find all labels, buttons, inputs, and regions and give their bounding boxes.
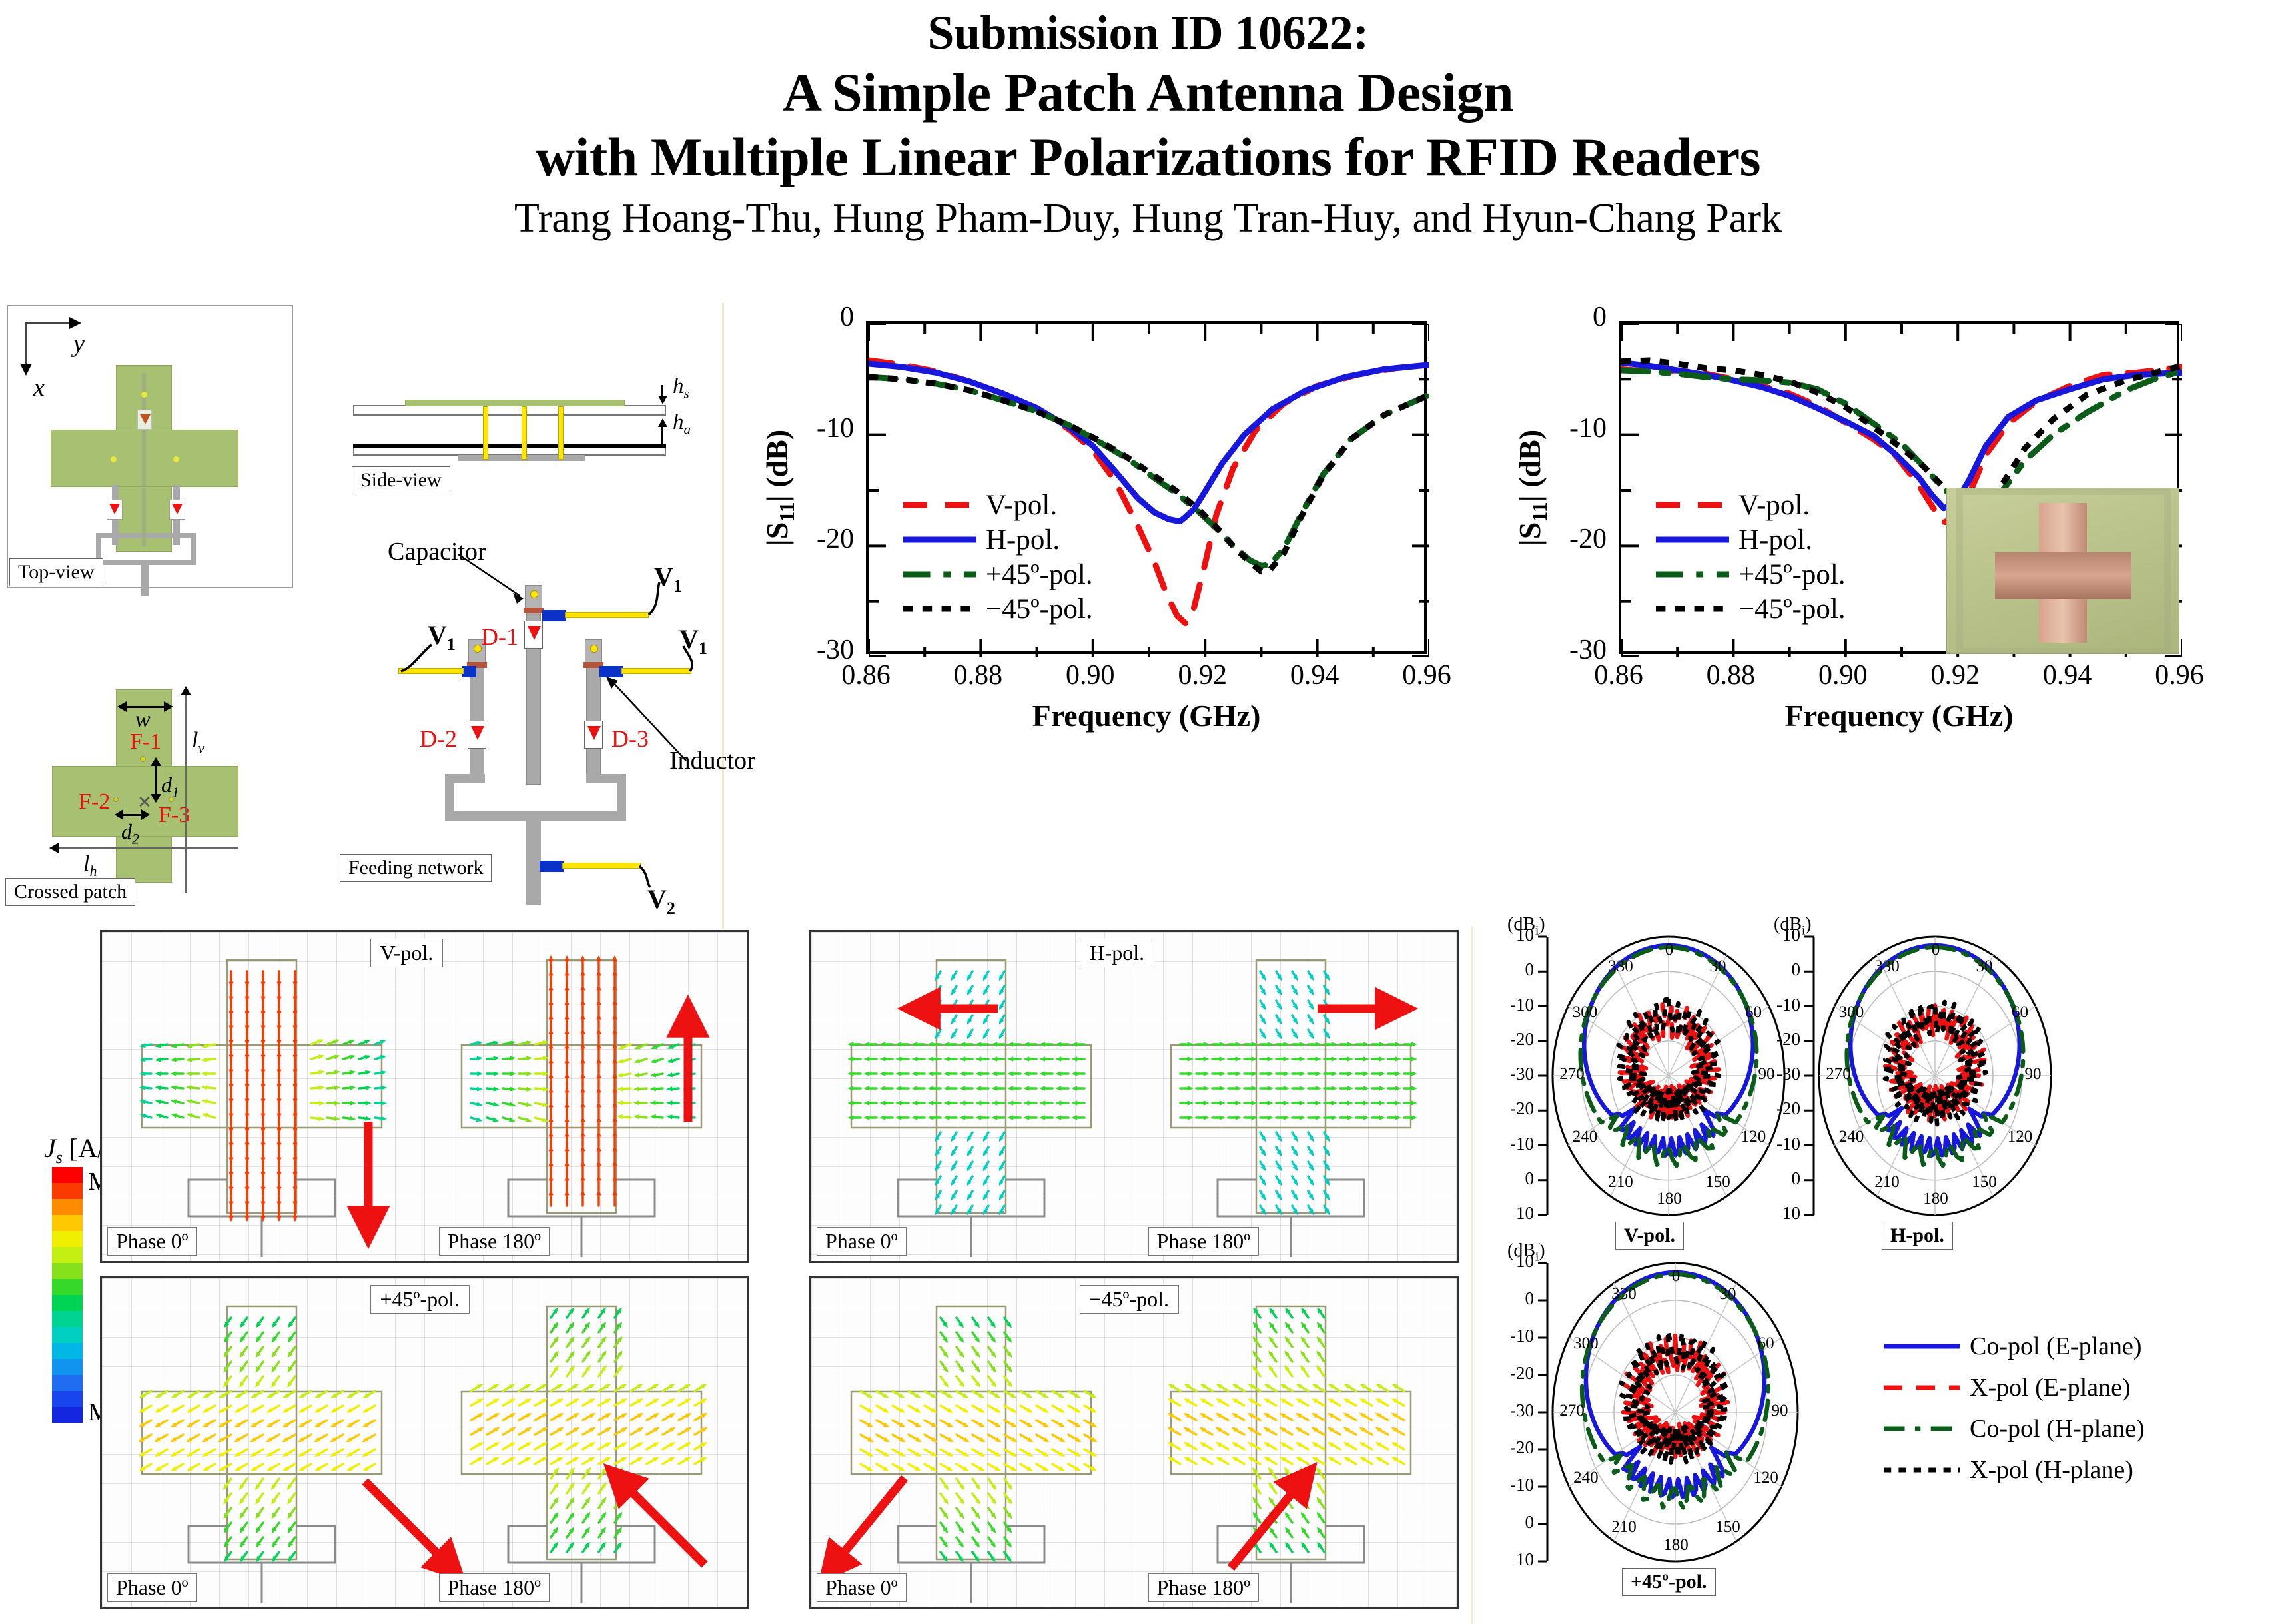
panel-title: +45º-pol.: [370, 1285, 470, 1314]
polar-angle-label: 0: [1654, 941, 1685, 959]
feed-pin-right: [173, 456, 179, 462]
radial-tick-label: 0: [1752, 959, 1800, 980]
legend-item-1: X-pol (E-plane): [1882, 1367, 2145, 1408]
top-view-caption: Top-view: [9, 558, 103, 586]
radial-tick-label: -20: [1752, 1098, 1800, 1119]
legend-swatch: [1882, 1464, 1962, 1476]
via-3: [558, 406, 564, 460]
y-axis-title: |S11| (dB): [759, 354, 799, 621]
dim-d2-label: d2: [121, 819, 139, 847]
radiation-pattern-group: 0306090120150180210240270300330100-10-20…: [1482, 933, 2296, 1619]
polar-plot-2: 0306090120150180210240270300330: [1549, 1259, 1802, 1565]
dim-d1-arrow-up-icon: [151, 757, 161, 766]
colorbar-segment: [52, 1311, 83, 1327]
x-tick-label: 0.88: [931, 659, 1024, 691]
via-2: [522, 406, 527, 460]
current-distribution-panel: V-pol.Phase 0ºPhase 180º: [100, 930, 749, 1263]
radial-tick-label: 0: [1486, 1288, 1534, 1309]
fn-pin-center: [530, 590, 538, 598]
legend-label: Co-pol (H-plane): [1970, 1414, 2145, 1443]
polar-radial-axis-0: 100-10-20-30-20-10010: [1490, 933, 1550, 1219]
polar-angle-label: 150: [1969, 1173, 2000, 1192]
legend-label: H-pol.: [986, 524, 1060, 556]
crossed-patch-caption: Crossed patch: [5, 878, 135, 906]
diode-marker-center-topview: [137, 410, 152, 430]
phase-label-0: Phase 0º: [107, 1227, 197, 1256]
column-divider-left: [722, 303, 724, 929]
dim-hs-label: hs: [673, 374, 689, 402]
dim-lv-arrow-icon: [181, 686, 191, 695]
radial-tick-label: -20: [1486, 1437, 1534, 1458]
radial-tick-label: -10: [1486, 1475, 1534, 1495]
colorbar-segment: [52, 1375, 83, 1391]
polar-plot-1: 0306090120150180210240270300330: [1815, 933, 2055, 1219]
bias-wire-right: [621, 668, 691, 674]
polar-angle-label: 120: [1750, 1469, 1781, 1487]
surface-current-vectors: [811, 1278, 1459, 1609]
polar-angle-label: 210: [1605, 1173, 1636, 1192]
current-distribution-panel: +45º-pol.Phase 0ºPhase 180º: [100, 1276, 749, 1609]
diode-d1-symbol: [524, 621, 543, 649]
legend-item-0: Co-pol (E-plane): [1882, 1326, 2145, 1367]
polar-angle-label: 30: [1969, 957, 2000, 976]
legend-swatch: [1653, 498, 1732, 512]
polar-angle-label: 210: [1609, 1518, 1639, 1537]
feed-pin-f1: [140, 756, 146, 762]
bias-v1-right-subscript: 1: [699, 639, 707, 658]
x-tick-label: 0.96: [1380, 659, 1473, 691]
radial-tick-label: -10: [1486, 1134, 1534, 1154]
submission-id-line: Submission ID 10622:: [0, 5, 2296, 61]
polar-angle-label: 240: [1570, 1128, 1601, 1146]
feeding-network-caption: Feeding network: [340, 854, 492, 882]
colorbar-segment: [52, 1215, 83, 1231]
substrate-top-layer: [353, 405, 666, 416]
polar-angle-label: 90: [1764, 1402, 1795, 1420]
inductor-left: [462, 666, 476, 677]
bias-v2-subscript: 2: [667, 899, 675, 918]
colorbar-segment: [52, 1391, 83, 1407]
polar-angle-label: 0: [1661, 1267, 1691, 1286]
top-view-diagram: y x: [7, 305, 293, 588]
chart-legend: V-pol.H-pol.+45º-pol.−45º-pol.: [901, 488, 1093, 626]
diode-marker-right-topview: [169, 500, 185, 520]
unit-main: (dB: [1507, 1240, 1535, 1261]
legend-item-2: Co-pol (H-plane): [1882, 1408, 2145, 1449]
feed-pin-f2: [113, 797, 119, 802]
x-tick-label: 0.92: [1156, 659, 1249, 691]
dim-lh-subscript: h: [89, 863, 97, 879]
polar-angle-label: 330: [1609, 1285, 1639, 1304]
y-axis-title-tail: | (dB): [760, 430, 794, 502]
legend-label: Co-pol (E-plane): [1970, 1332, 2142, 1361]
colorbar-segment: [52, 1279, 83, 1295]
radial-tick-label: 0: [1752, 1168, 1800, 1189]
polar-angle-label: 300: [1570, 1003, 1601, 1022]
s11-simulated-chart: 0-10-20-300.860.880.900.920.940.96Freque…: [733, 306, 1445, 773]
colorbar-segment: [52, 1407, 83, 1423]
radiation-pattern-legend: Co-pol (E-plane)X-pol (E-plane)Co-pol (H…: [1882, 1326, 2145, 1491]
panel-title: V-pol.: [370, 939, 444, 967]
phase-label-0: Phase 0º: [107, 1573, 197, 1602]
surface-current-vectors: [811, 932, 1459, 1263]
bias-wire-center: [565, 612, 649, 618]
author-list: Trang Hoang-Thu, Hung Pham-Duy, Hung Tra…: [0, 193, 2296, 245]
y-axis-title-subscript: 11: [1527, 502, 1551, 522]
paper-title-line-1: A Simple Patch Antenna Design: [0, 61, 2296, 125]
colorbar-segment: [52, 1343, 83, 1359]
s11-measured-chart: 0-10-20-300.860.880.900.920.940.96Freque…: [1485, 306, 2198, 773]
polar-angle-label: 90: [2018, 1065, 2048, 1084]
legend-swatch: [901, 498, 979, 512]
legend-label: X-pol (H-plane): [1970, 1455, 2133, 1485]
x-tick-label: 0.94: [1268, 659, 1361, 691]
dim-w-arrow-left-icon: [117, 701, 127, 712]
side-patch-strip: [405, 400, 625, 406]
current-distribution-panel: H-pol.Phase 0ºPhase 180º: [809, 930, 1459, 1263]
diode-label-d3: D-3: [611, 725, 649, 753]
dim-d1-symbol: d: [161, 773, 172, 797]
diode-d2-symbol: [468, 721, 486, 749]
legend-label: −45º-pol.: [986, 593, 1093, 625]
x-tick-label: 0.86: [1572, 659, 1665, 691]
polar-angle-label: 180: [1654, 1190, 1685, 1208]
series-line-1: [1621, 362, 2182, 508]
colorbar-segment: [52, 1247, 83, 1263]
polar-angle-label: 270: [1557, 1065, 1587, 1084]
legend-item-3: X-pol (H-plane): [1882, 1449, 2145, 1491]
legend-label: X-pol (E-plane): [1970, 1373, 2131, 1402]
polar-angle-label: 60: [1750, 1334, 1781, 1353]
polar-angle-label: 150: [1713, 1518, 1743, 1537]
y-axis-title-main: |S: [1513, 522, 1547, 546]
polar-radial-axis-1: 100-10-20-30-20-10010: [1756, 933, 1816, 1219]
panel-title: −45º-pol.: [1080, 1285, 1180, 1314]
radial-tick-label: 10: [1486, 1549, 1534, 1570]
radial-tick-label: 0: [1486, 959, 1534, 980]
dim-d2-subscript: 2: [132, 830, 139, 847]
polar-angle-label: 270: [1823, 1065, 1854, 1084]
capacitor-center: [524, 608, 544, 613]
dim-d2-arrow-right-icon: [141, 809, 150, 820]
polar-angle-label: 0: [1920, 941, 1951, 959]
polar-angle-label: 300: [1836, 1003, 1867, 1022]
polar-angle-label: 30: [1713, 1285, 1743, 1304]
colorbar-segment: [52, 1183, 83, 1199]
radial-tick-label: -20: [1486, 1029, 1534, 1050]
x-tick-label: 0.90: [1796, 659, 1890, 691]
legend-swatch: [901, 568, 979, 581]
diode-d3-symbol: [584, 721, 603, 749]
bias-label-v2: V2: [647, 883, 675, 919]
y-tick-label: 0: [1533, 301, 1607, 333]
x-tick-label: 0.86: [819, 659, 913, 691]
legend-item-1: H-pol.: [901, 522, 1093, 557]
panel-title: H-pol.: [1080, 939, 1155, 967]
legend-swatch: [1653, 568, 1732, 581]
dim-ha-subscript: a: [684, 422, 691, 438]
legend-swatch: [1653, 602, 1732, 615]
dim-w-arrow-right-icon: [164, 701, 173, 712]
legend-item-3: −45º-pol.: [1653, 592, 1846, 626]
unit-main: (dB: [1507, 914, 1535, 935]
dim-lv-subscript: v: [198, 739, 204, 756]
polar-radial-axis-2: 100-10-20-30-20-10010: [1490, 1259, 1550, 1565]
x-tick-label: 0.90: [1044, 659, 1137, 691]
legend-label: +45º-pol.: [986, 558, 1093, 591]
chart-legend: V-pol.H-pol.+45º-pol.−45º-pol.: [1653, 488, 1846, 626]
diode-label-d2: D-2: [420, 725, 457, 753]
radial-tick-label: 10: [1486, 1203, 1534, 1224]
feed-pin-left: [111, 456, 117, 462]
polar-unit-label: (dBi): [1507, 1240, 1545, 1265]
dim-lv-line: [185, 693, 187, 893]
fn-feed-stem: [526, 811, 541, 905]
colorbar-segment: [52, 1231, 83, 1247]
dim-ha-line: [661, 426, 663, 444]
feed-center-trace: [142, 373, 146, 546]
radial-tick-label: -30: [1752, 1064, 1800, 1084]
polar-unit-label: (dBi): [1507, 914, 1545, 939]
polar-angle-label: 30: [1703, 957, 1733, 976]
y-axis-title: |S11| (dB): [1512, 354, 1552, 621]
bias-wire-bottom: [562, 863, 641, 869]
dim-lh-label: lh: [83, 851, 97, 880]
surface-current-vectors: [102, 932, 749, 1263]
fn-branch-center: [526, 585, 541, 785]
photo-cross-arm: [1995, 552, 2131, 599]
radial-tick-label: -10: [1752, 1134, 1800, 1154]
x-axis-title: Frequency (GHz): [1619, 698, 2179, 733]
bias-v1-right-symbol: V: [679, 624, 699, 654]
polar-angle-label: 240: [1571, 1469, 1601, 1487]
y-tick-label: 0: [781, 301, 854, 333]
radial-tick-label: -10: [1752, 995, 1800, 1015]
dim-d2-symbol: d: [121, 819, 132, 843]
polar-plot-caption: +45º-pol.: [1622, 1568, 1716, 1596]
polar-angle-label: 300: [1571, 1334, 1601, 1353]
x-tick-label: 0.88: [1684, 659, 1777, 691]
polar-angle-label: 270: [1557, 1402, 1587, 1420]
current-distribution-panel: −45º-pol.Phase 0ºPhase 180º: [809, 1276, 1459, 1609]
diode-marker-left-topview: [107, 500, 123, 520]
axis-y-label: y: [73, 329, 85, 358]
dim-hs-line: [661, 385, 663, 397]
inductor-center: [542, 610, 566, 621]
polar-angle-label: 180: [1661, 1536, 1691, 1555]
bias-label-v1-top: V1: [654, 561, 682, 596]
column-divider-right: [1471, 926, 1473, 1624]
bias-v1-top-symbol: V: [654, 562, 673, 592]
radial-tick-label: -20: [1486, 1098, 1534, 1119]
radial-tick-label: -10: [1486, 995, 1534, 1015]
polar-plot-caption: V-pol.: [1615, 1222, 1684, 1250]
legend-label: H-pol.: [1738, 524, 1812, 556]
legend-label: +45º-pol.: [1738, 558, 1846, 591]
x-tick-label: 0.94: [2021, 659, 2114, 691]
legend-item-2: +45º-pol.: [1653, 557, 1846, 592]
colorbar-segment: [52, 1327, 83, 1343]
x-tick-label: 0.92: [1908, 659, 2002, 691]
bias-v1-top-subscript: 1: [673, 576, 682, 596]
feed-ring-bottom: [96, 533, 196, 538]
colorbar-title-subscript: s: [56, 1148, 63, 1167]
colorbar-segment: [52, 1359, 83, 1375]
dim-d2-arrow-left-icon: [115, 809, 123, 820]
x-axis-title: Frequency (GHz): [866, 698, 1427, 733]
bias-v2-symbol: V: [647, 884, 667, 914]
fabricated-antenna-photo: [1946, 488, 2179, 654]
unit-tail: ): [1539, 1240, 1545, 1261]
ground-plane: [353, 444, 666, 448]
phase-label-180: Phase 180º: [439, 1227, 550, 1256]
phase-label-180: Phase 180º: [439, 1573, 550, 1602]
unit-tail: ): [1539, 914, 1545, 935]
radial-tick-label: 0: [1486, 1168, 1534, 1189]
bias-label-v1-left: V1: [428, 619, 456, 655]
side-view-caption: Side-view: [352, 466, 450, 494]
colorbar-segment: [52, 1167, 83, 1183]
unit-tail: ): [1805, 914, 1811, 935]
radial-tick-label: -30: [1486, 1400, 1534, 1421]
feed-point-label-f1: F-1: [130, 729, 161, 755]
surface-current-vectors: [102, 1278, 749, 1609]
polar-angle-label: 330: [1872, 957, 1902, 976]
feed-pin-f3: [169, 797, 174, 802]
current-distribution-panels: V-pol.Phase 0ºPhase 180ºH-pol.Phase 0ºPh…: [100, 930, 1445, 1619]
polar-unit-label: (dBi): [1774, 914, 1812, 939]
legend-swatch: [901, 533, 979, 546]
polar-plot-caption: H-pol.: [1882, 1222, 1953, 1250]
polar-angle-label: 240: [1836, 1128, 1867, 1146]
dim-lh-line: [55, 847, 238, 849]
dim-d1-arrow-down-icon: [151, 794, 161, 803]
legend-swatch: [1882, 1423, 1962, 1435]
axis-x-arrow-icon: [20, 364, 32, 376]
feed-main-line: [141, 560, 149, 596]
radial-tick-label: -30: [1486, 1064, 1534, 1084]
legend-item-2: +45º-pol.: [901, 557, 1093, 592]
bias-label-v1-right: V1: [679, 623, 707, 659]
axis-y-arrow-icon: [69, 317, 81, 329]
legend-item-1: H-pol.: [1653, 522, 1846, 557]
inductor-bottom: [540, 861, 564, 872]
diode-label-d1: D-1: [481, 623, 518, 651]
dim-hs-symbol: h: [673, 374, 684, 398]
dim-lv-label: lv: [192, 728, 204, 757]
legend-label: V-pol.: [1738, 489, 1810, 522]
radial-tick-label: -20: [1486, 1363, 1534, 1384]
polar-angle-label: 120: [2004, 1128, 2035, 1146]
radial-tick-label: -20: [1752, 1029, 1800, 1050]
dim-d2-line: [121, 814, 144, 816]
dim-ha-symbol: h: [673, 410, 684, 434]
x-tick-label: 0.96: [2133, 659, 2226, 691]
colorbar-segment: [52, 1263, 83, 1279]
legend-label: −45º-pol.: [1738, 593, 1846, 625]
inductor-right: [599, 666, 623, 677]
dim-hs-subscript: s: [684, 386, 689, 402]
legend-swatch: [1653, 533, 1732, 546]
polar-angle-label: 60: [2004, 1003, 2035, 1022]
phase-label-0: Phase 0º: [817, 1573, 907, 1602]
dim-lh-arrow-icon: [49, 843, 59, 853]
legend-item-0: V-pol.: [1653, 488, 1846, 522]
polar-angle-label: 210: [1872, 1173, 1902, 1192]
bias-wire-left: [398, 668, 464, 674]
radial-tick-label: -10: [1486, 1326, 1534, 1346]
polar-angle-label: 150: [1703, 1173, 1733, 1192]
coordinate-axes: y x: [24, 321, 117, 394]
phase-label-180: Phase 180º: [1148, 1227, 1260, 1256]
legend-item-3: −45º-pol.: [901, 592, 1093, 626]
radial-tick-label: 0: [1486, 1512, 1534, 1533]
colorbar-gradient: [52, 1167, 83, 1423]
y-axis-title-subscript: 11: [775, 502, 799, 522]
axis-x-label: x: [33, 373, 45, 402]
legend-swatch: [1882, 1340, 1962, 1352]
y-axis-title-tail: | (dB): [1513, 430, 1547, 502]
colorbar-segment: [52, 1295, 83, 1311]
radial-tick-label: 10: [1752, 1203, 1800, 1224]
colorbar-title-symbol: J: [44, 1133, 56, 1163]
bias-v1-left-symbol: V: [428, 620, 447, 650]
polar-angle-label: 330: [1605, 957, 1636, 976]
feed-point-label-f2: F-2: [79, 789, 110, 815]
capacitor-callout-label: Capacitor: [388, 537, 486, 566]
legend-swatch: [901, 602, 979, 615]
via-1: [483, 406, 488, 460]
bias-v1-left-subscript: 1: [447, 635, 456, 654]
poster-header: Submission ID 10622: A Simple Patch Ante…: [0, 0, 2296, 245]
crossed-patch-diagram: w F-1 d1 F-2 F-3 ✕ d2 lv lh: [7, 666, 286, 893]
unit-main: (dB: [1774, 914, 1802, 935]
dim-ha-label: ha: [673, 410, 691, 438]
legend-label: V-pol.: [986, 489, 1057, 522]
colorbar-segment: [52, 1199, 83, 1215]
legend-swatch: [1882, 1382, 1962, 1394]
y-axis-title-main: |S: [760, 522, 794, 546]
legend-item-0: V-pol.: [901, 488, 1093, 522]
feed-pin-top: [141, 392, 147, 398]
fn-pin-right: [590, 645, 598, 653]
paper-title-line-2: with Multiple Linear Polarizations for R…: [0, 125, 2296, 190]
polar-angle-label: 180: [1920, 1190, 1951, 1208]
phase-label-180: Phase 180º: [1148, 1573, 1260, 1602]
phase-label-0: Phase 0º: [817, 1227, 907, 1256]
